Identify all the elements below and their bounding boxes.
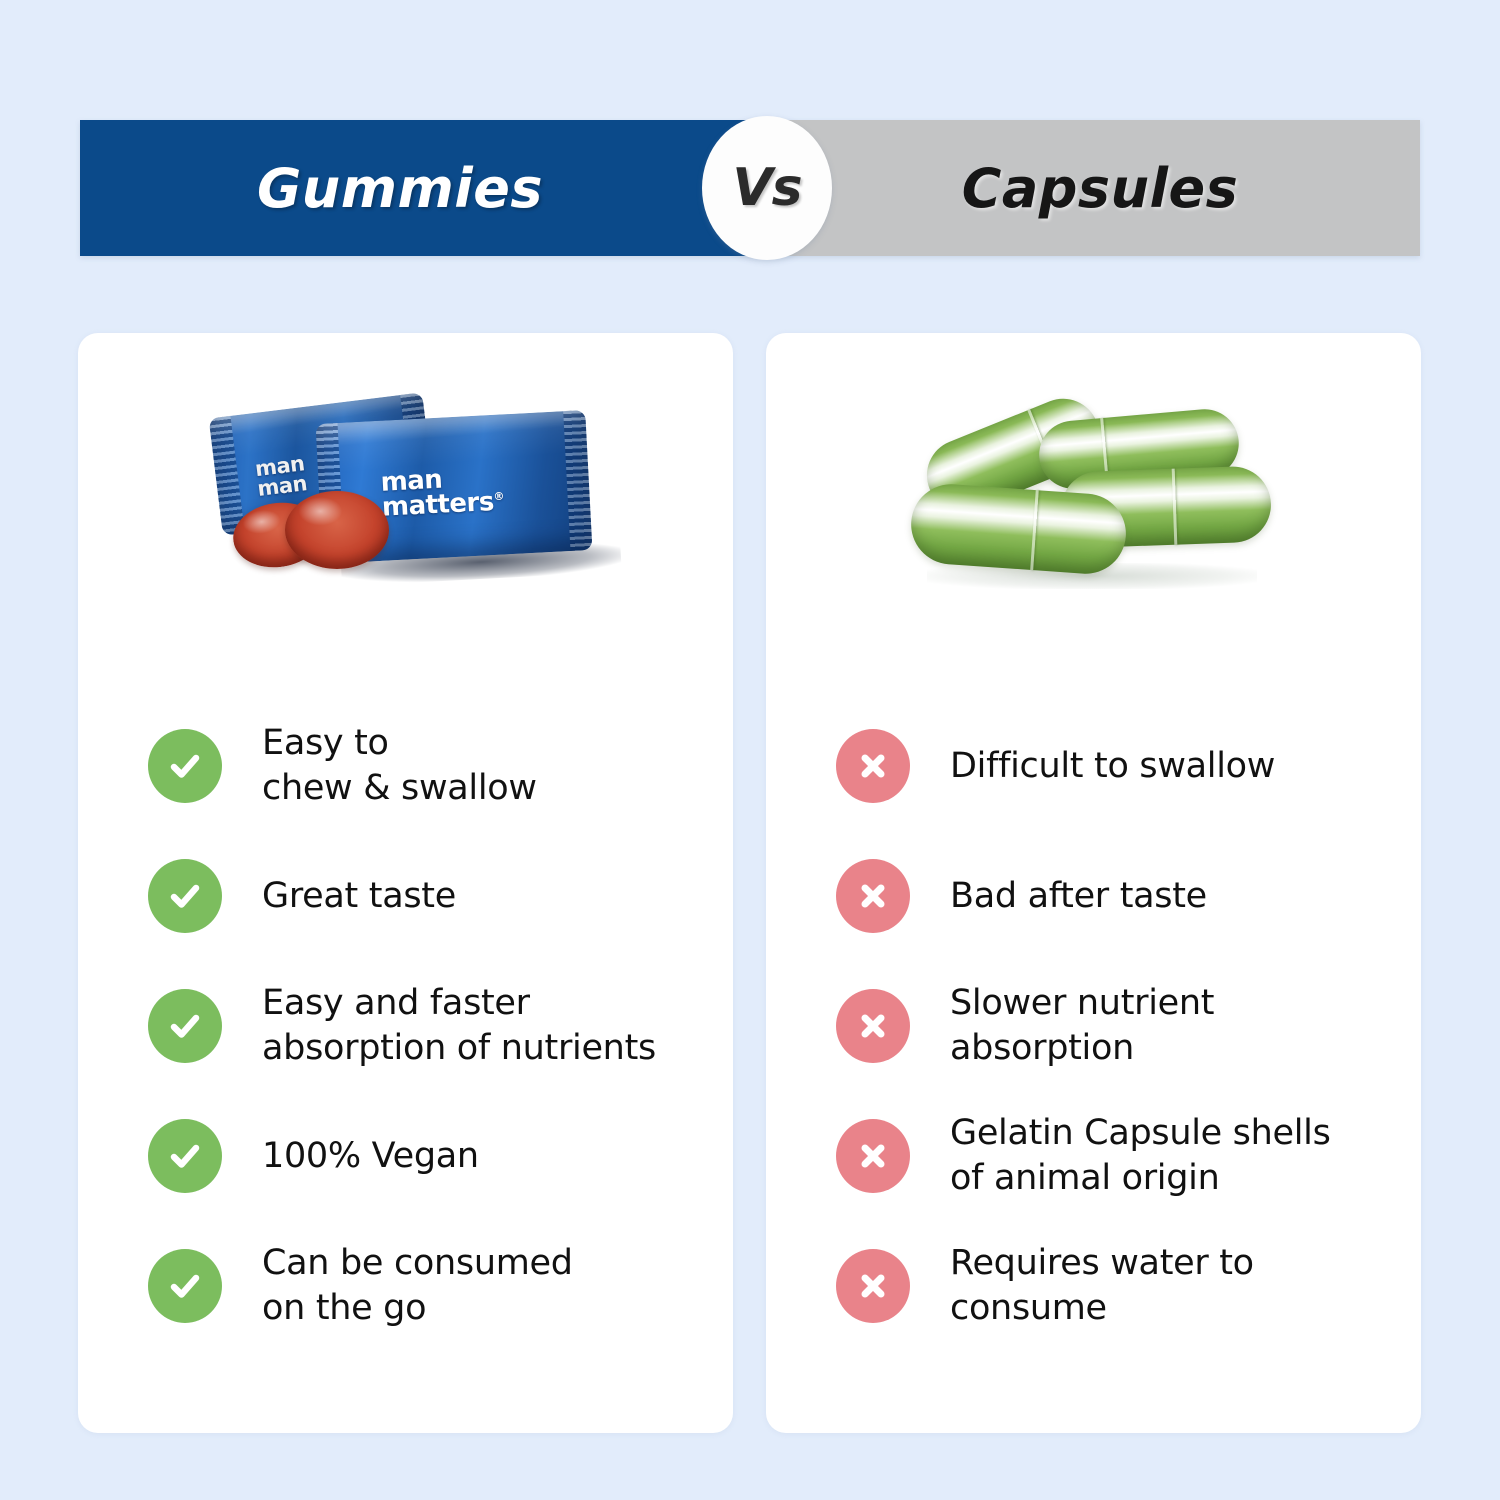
feature-item: Easy to chew & swallow <box>148 701 699 831</box>
feature-line-2: on the go <box>262 1286 573 1331</box>
versus-badge: Vs <box>702 116 832 260</box>
feature-line-1: Difficult to swallow <box>950 746 1275 786</box>
feature-item: Gelatin Capsule shells of animal origin <box>836 1091 1387 1221</box>
feature-item: Difficult to swallow <box>836 701 1387 831</box>
check-icon <box>148 1119 222 1193</box>
feature-item: Requires water to consume <box>836 1221 1387 1351</box>
capsule-4 <box>908 482 1128 577</box>
feature-line-1: 100% Vegan <box>262 1136 479 1176</box>
feature-line-2: absorption <box>950 1026 1214 1071</box>
check-icon <box>148 989 222 1063</box>
feature-line-2: of animal origin <box>950 1156 1331 1201</box>
sachet-brand-mark: ® <box>493 490 504 504</box>
feature-text: Slower nutrient absorption <box>950 981 1214 1071</box>
check-icon <box>148 859 222 933</box>
feature-line-1: Requires water to <box>950 1243 1254 1283</box>
feature-text: Gelatin Capsule shells of animal origin <box>950 1111 1331 1201</box>
feature-text: Easy and faster absorption of nutrients <box>262 981 656 1071</box>
comparison-cards: man man man matters® <box>78 333 1422 1433</box>
feature-text: Requires water to consume <box>950 1241 1254 1331</box>
feature-text: Difficult to swallow <box>950 744 1275 789</box>
gummies-art-stage: man man man matters® <box>191 395 621 625</box>
feature-line-1: Easy and faster <box>262 983 530 1023</box>
feature-line-1: Gelatin Capsule shells <box>950 1113 1331 1153</box>
header-bar-gummies: Gummies <box>80 120 750 256</box>
cross-icon <box>836 859 910 933</box>
header-title-capsules: Capsules <box>962 157 1239 220</box>
versus-label: Vs <box>732 158 801 218</box>
feature-item: 100% Vegan <box>148 1091 699 1221</box>
feature-line-1: Slower nutrient <box>950 983 1214 1023</box>
feature-item: Slower nutrient absorption <box>836 961 1387 1091</box>
header-bar-capsules: Capsules <box>750 120 1420 256</box>
sachet-brand-front-line2: matters <box>381 487 494 523</box>
sachet-front-crimp-right <box>563 410 592 551</box>
gummy-disc-front <box>285 491 389 569</box>
feature-list-capsules: Difficult to swallow Bad after taste <box>766 701 1421 1351</box>
card-gummies: man man man matters® <box>78 333 733 1433</box>
feature-line-2: consume <box>950 1286 1254 1331</box>
sachet-brand-back-line2: man <box>256 471 308 501</box>
feature-list-gummies: Easy to chew & swallow Great taste <box>78 701 733 1351</box>
feature-text: Can be consumed on the go <box>262 1241 573 1331</box>
feature-line-1: Great taste <box>262 876 456 916</box>
feature-line-2: chew & swallow <box>262 766 537 811</box>
feature-item: Easy and faster absorption of nutrients <box>148 961 699 1091</box>
sachet-crimp-left <box>208 416 244 536</box>
card-capsules: Difficult to swallow Bad after taste <box>766 333 1421 1433</box>
sachet-brand-front: man matters® <box>380 464 505 520</box>
sachet-brand-back: man man <box>253 453 307 499</box>
feature-item: Bad after taste <box>836 831 1387 961</box>
cross-icon <box>836 1249 910 1323</box>
check-icon <box>148 1249 222 1323</box>
feature-line-2: absorption of nutrients <box>262 1026 656 1071</box>
feature-line-1: Can be consumed <box>262 1243 573 1283</box>
check-icon <box>148 729 222 803</box>
feature-item: Great taste <box>148 831 699 961</box>
feature-item: Can be consumed on the go <box>148 1221 699 1351</box>
cross-icon <box>836 989 910 1063</box>
feature-text: 100% Vegan <box>262 1134 479 1179</box>
product-image-capsules <box>766 333 1421 678</box>
feature-line-1: Easy to <box>262 723 389 763</box>
feature-text: Great taste <box>262 874 456 919</box>
product-image-gummies: man man man matters® <box>78 333 733 678</box>
feature-text: Bad after taste <box>950 874 1207 919</box>
feature-line-1: Bad after taste <box>950 876 1207 916</box>
header-title-gummies: Gummies <box>257 157 543 220</box>
feature-text: Easy to chew & swallow <box>262 721 537 811</box>
capsules-art-stage <box>879 395 1309 625</box>
cross-icon <box>836 1119 910 1193</box>
cross-icon <box>836 729 910 803</box>
